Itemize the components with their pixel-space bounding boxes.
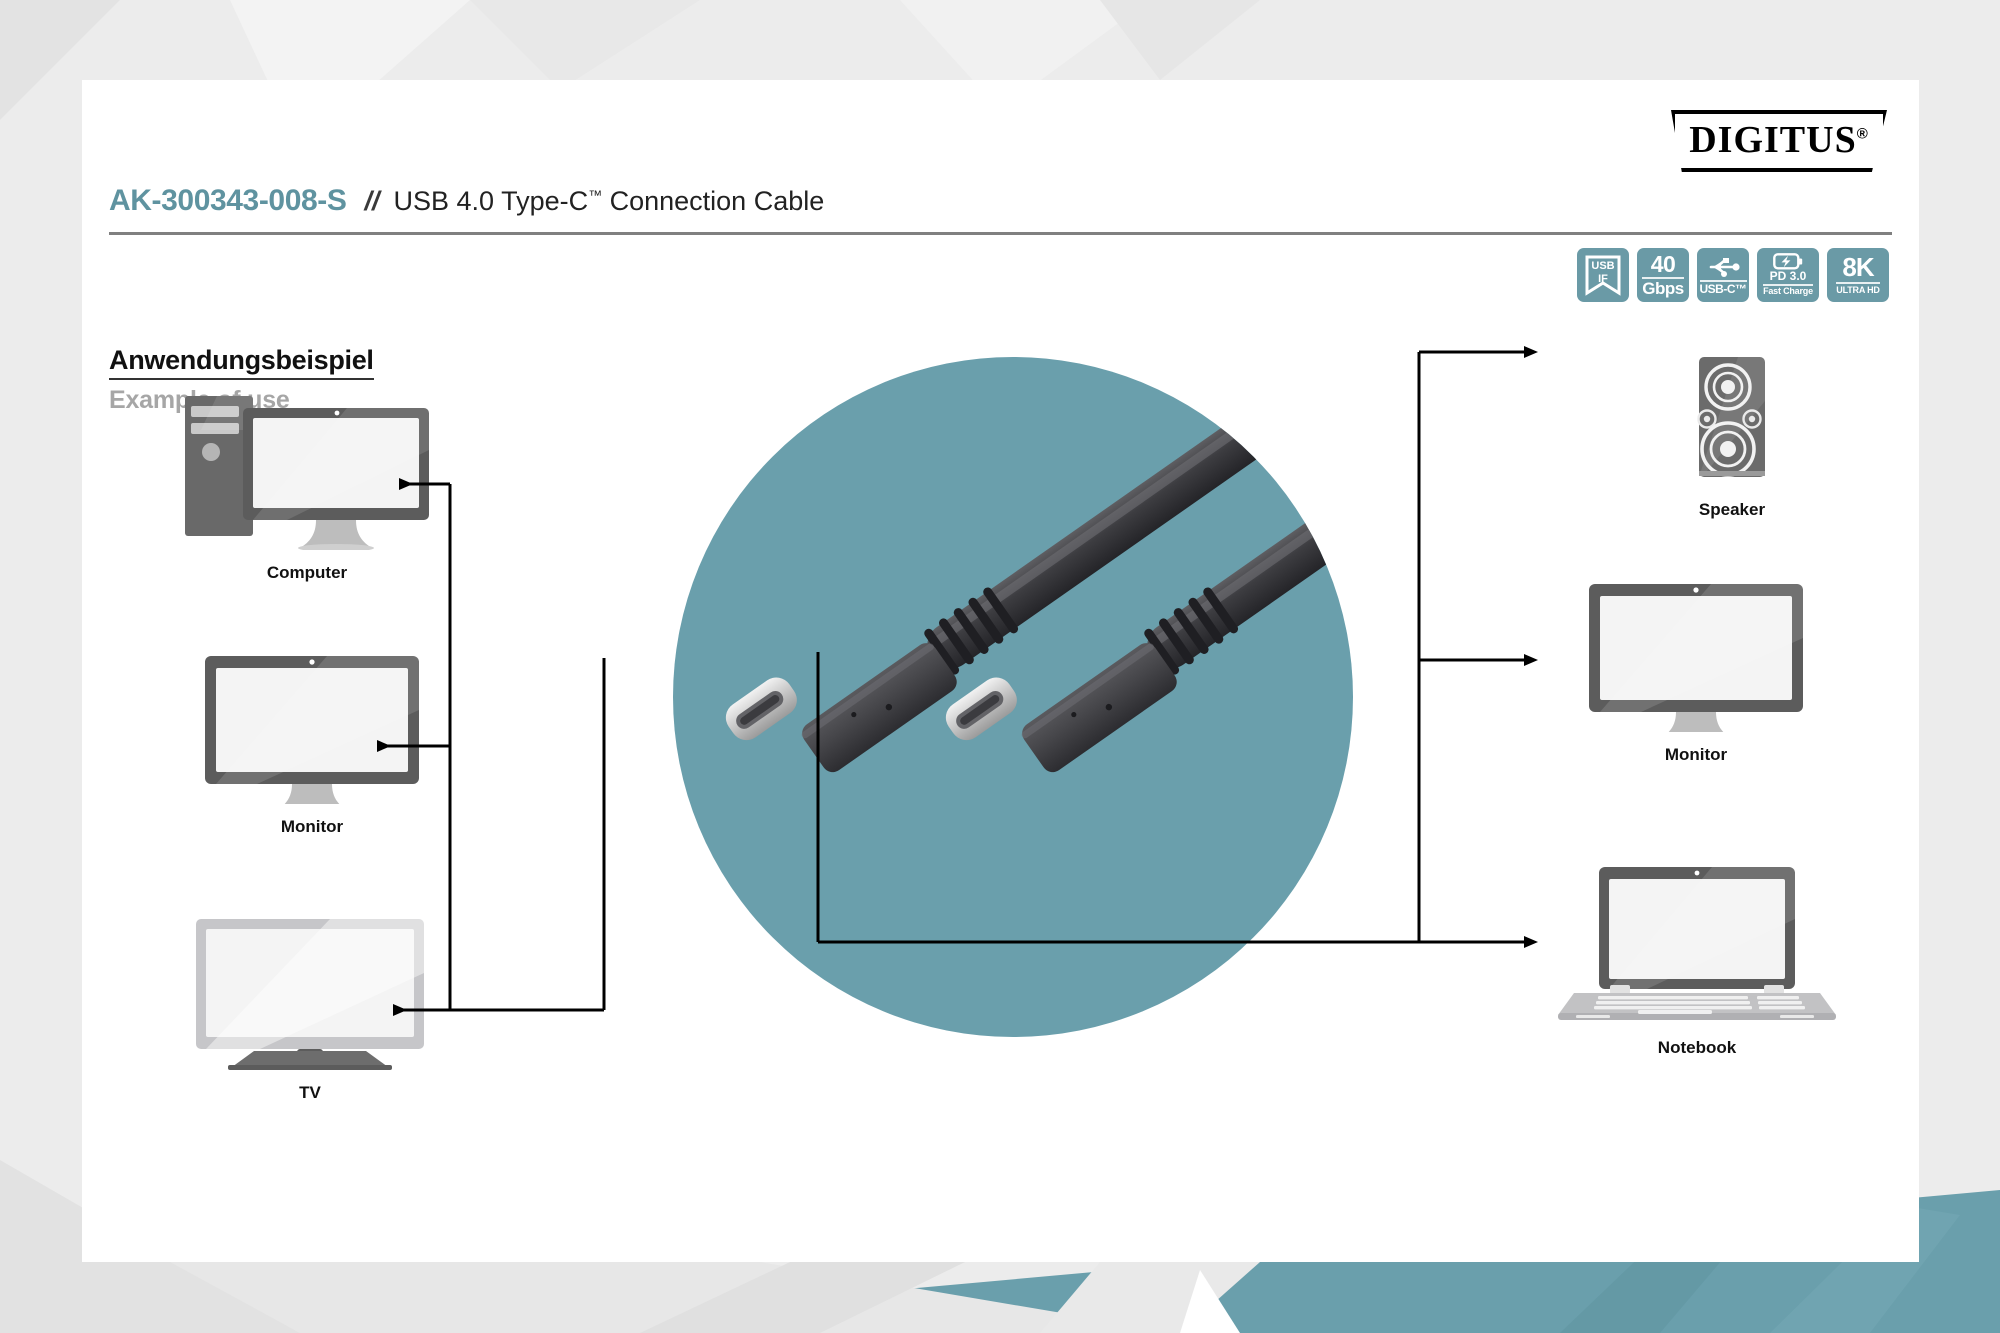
usage-diagram: Computer Monitor TV [82, 80, 1919, 1262]
content-card: DIGITUS® AK-300343-008-S // USB 4.0 Type… [82, 80, 1919, 1262]
connection-arrows [82, 80, 1919, 1262]
